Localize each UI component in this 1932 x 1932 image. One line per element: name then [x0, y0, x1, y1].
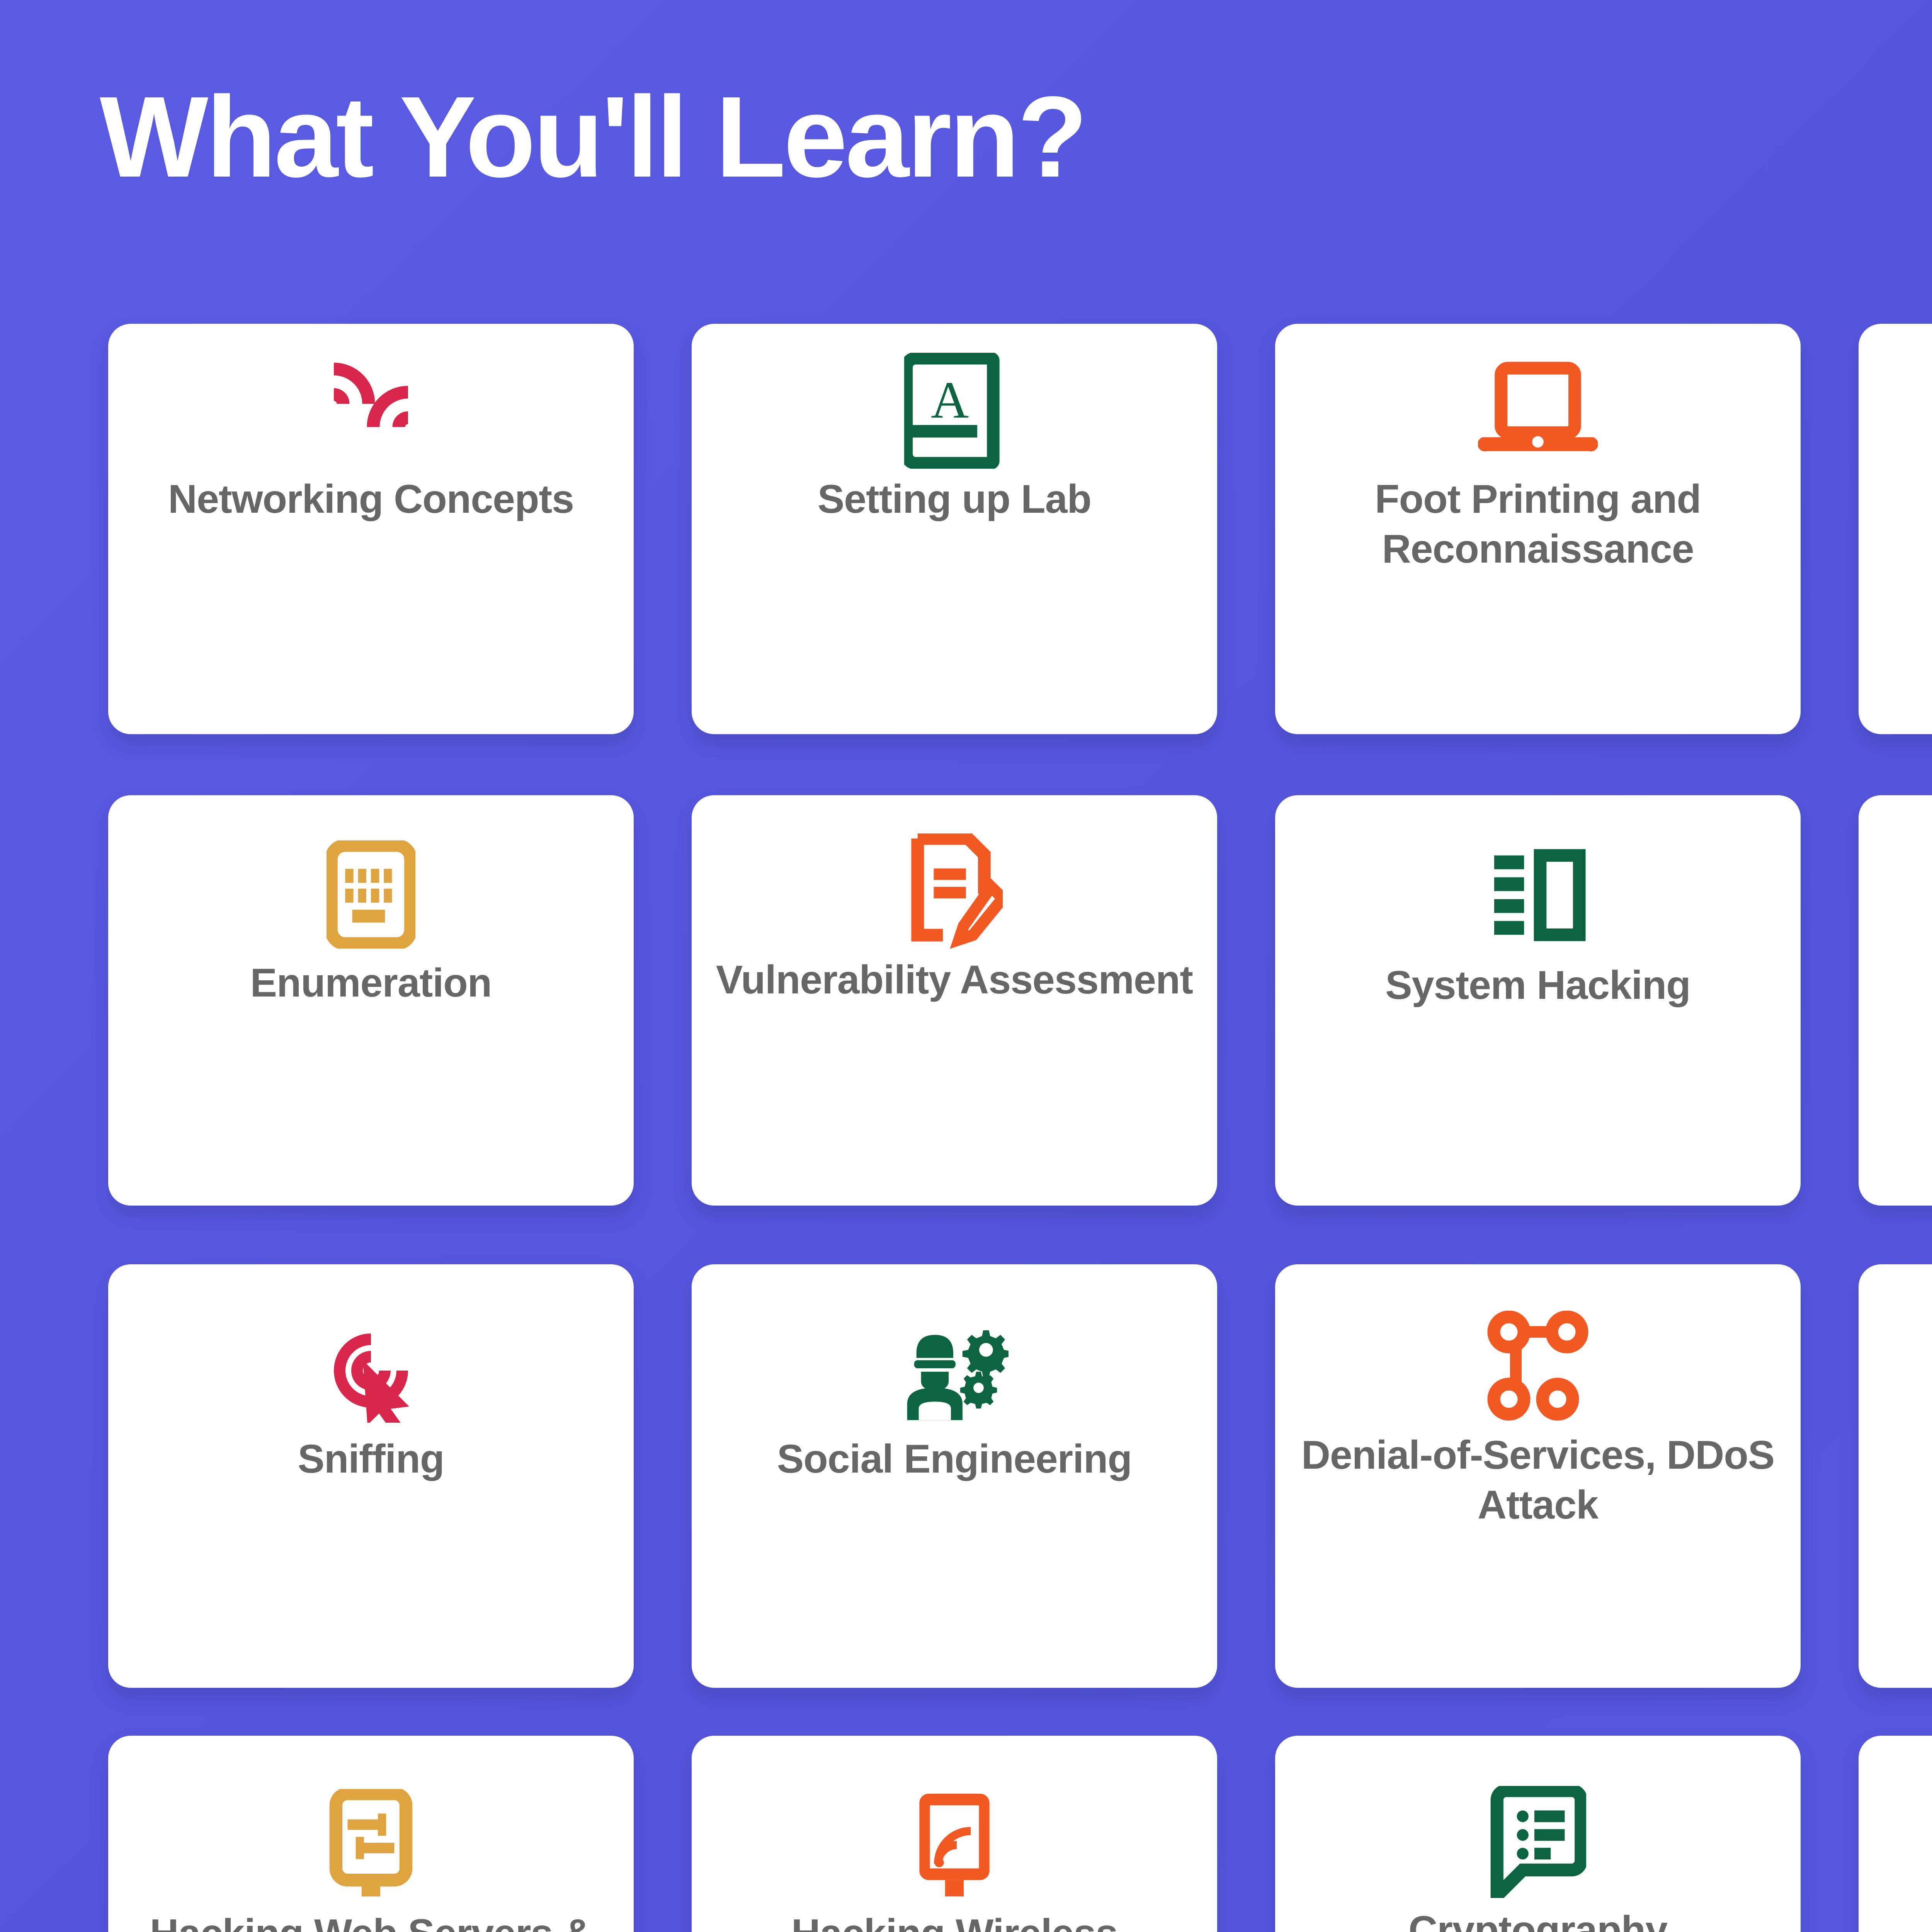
wireless-device-icon	[692, 1781, 1217, 1909]
topics-row: Enumeration Vulnerability Assessment	[108, 795, 1932, 1206]
topic-card-foot-printing[interactable]: Foot Printing and Reconnaissance	[1275, 324, 1801, 734]
topic-card-label: Social Engineering	[764, 1434, 1145, 1484]
topic-card-enumeration[interactable]: Enumeration	[108, 795, 634, 1206]
node-graph-icon	[1275, 1303, 1801, 1430]
topic-card-sniffing[interactable]: Sniffing	[108, 1264, 634, 1688]
topic-card-label: Denial-of-Services, DDoS Attack	[1275, 1430, 1801, 1530]
topic-card-ddos-attack[interactable]: Denial-of-Services, DDoS Attack	[1275, 1264, 1801, 1688]
topics-row: Hacking Web Servers & Application	[108, 1736, 1932, 1932]
document-pencil-icon	[692, 828, 1217, 955]
page-content: What You'll Learn?	[0, 0, 1932, 1932]
topic-card-label: Hacking Wireless Networks	[692, 1909, 1217, 1932]
topic-card-label: Introduction to Penetration Testing	[1859, 1910, 1932, 1932]
topic-card-label: System Hacking	[1372, 961, 1703, 1010]
topic-card-label: Hacking Web Servers & Application	[108, 1909, 634, 1932]
topic-card-networking-concepts[interactable]: Networking Concepts	[108, 324, 634, 734]
svg-text:A: A	[931, 371, 969, 429]
network-hub-icon	[1859, 347, 1932, 474]
server-rack-icon	[1275, 833, 1801, 961]
keyboard-icon	[108, 831, 634, 958]
stacked-blocks-icon	[1859, 1782, 1932, 1910]
topic-card-setting-up-lab[interactable]: A Setting up Lab	[692, 324, 1217, 734]
topic-card-label: Setting up Lab	[804, 474, 1104, 524]
topic-card-malware-threats[interactable]: Malware Threats	[1859, 795, 1932, 1206]
dictionary-book-icon: A	[692, 347, 1217, 474]
topic-card-hacking-wireless-networks[interactable]: Hacking Wireless Networks	[692, 1736, 1217, 1932]
laptop-icon	[1275, 347, 1801, 474]
topic-card-intro-penetration-testing[interactable]: Introduction to Penetration Testing	[1859, 1736, 1932, 1932]
target-cursor-icon	[108, 1307, 634, 1434]
topic-card-session-hijacking[interactable]: Session Hijacking	[1859, 1264, 1932, 1688]
code-brackets-icon	[1859, 1307, 1932, 1434]
topic-card-hacking-web-servers[interactable]: Hacking Web Servers & Application	[108, 1736, 634, 1932]
topic-card-social-engineering[interactable]: Social Engineering	[692, 1264, 1217, 1688]
worker-gears-icon	[692, 1307, 1217, 1434]
topic-card-cryptography[interactable]: Cryptography	[1275, 1736, 1801, 1932]
server-settings-icon	[108, 1781, 634, 1909]
topics-grid: Networking Concepts A Setting up Lab	[108, 324, 1932, 734]
page-title: What You'll Learn?	[100, 80, 1085, 195]
topic-card-label: Enumeration	[237, 958, 505, 1008]
topics-row: Sniffing	[108, 1264, 1932, 1688]
topic-card-label: Foot Printing and Reconnaissance	[1275, 474, 1801, 574]
topic-card-label: Networking Concepts	[155, 474, 587, 524]
sitemap-branch-icon	[1859, 831, 1932, 958]
topic-card-label: Sniffing	[284, 1434, 457, 1484]
wifi-waves-icon	[108, 347, 634, 474]
topic-card-label: Vulnerability Assessment	[703, 955, 1206, 1005]
chat-list-icon	[1275, 1778, 1801, 1906]
topic-card-vulnerability-assessment[interactable]: Vulnerability Assessment	[692, 795, 1217, 1206]
topic-card-label: Cryptography	[1395, 1906, 1680, 1932]
infographic-page: What You'll Learn?	[0, 0, 1932, 1932]
topic-card-system-hacking[interactable]: System Hacking	[1275, 795, 1801, 1206]
topic-card-network-scanning-1[interactable]: Network Scanning	[1859, 324, 1932, 734]
